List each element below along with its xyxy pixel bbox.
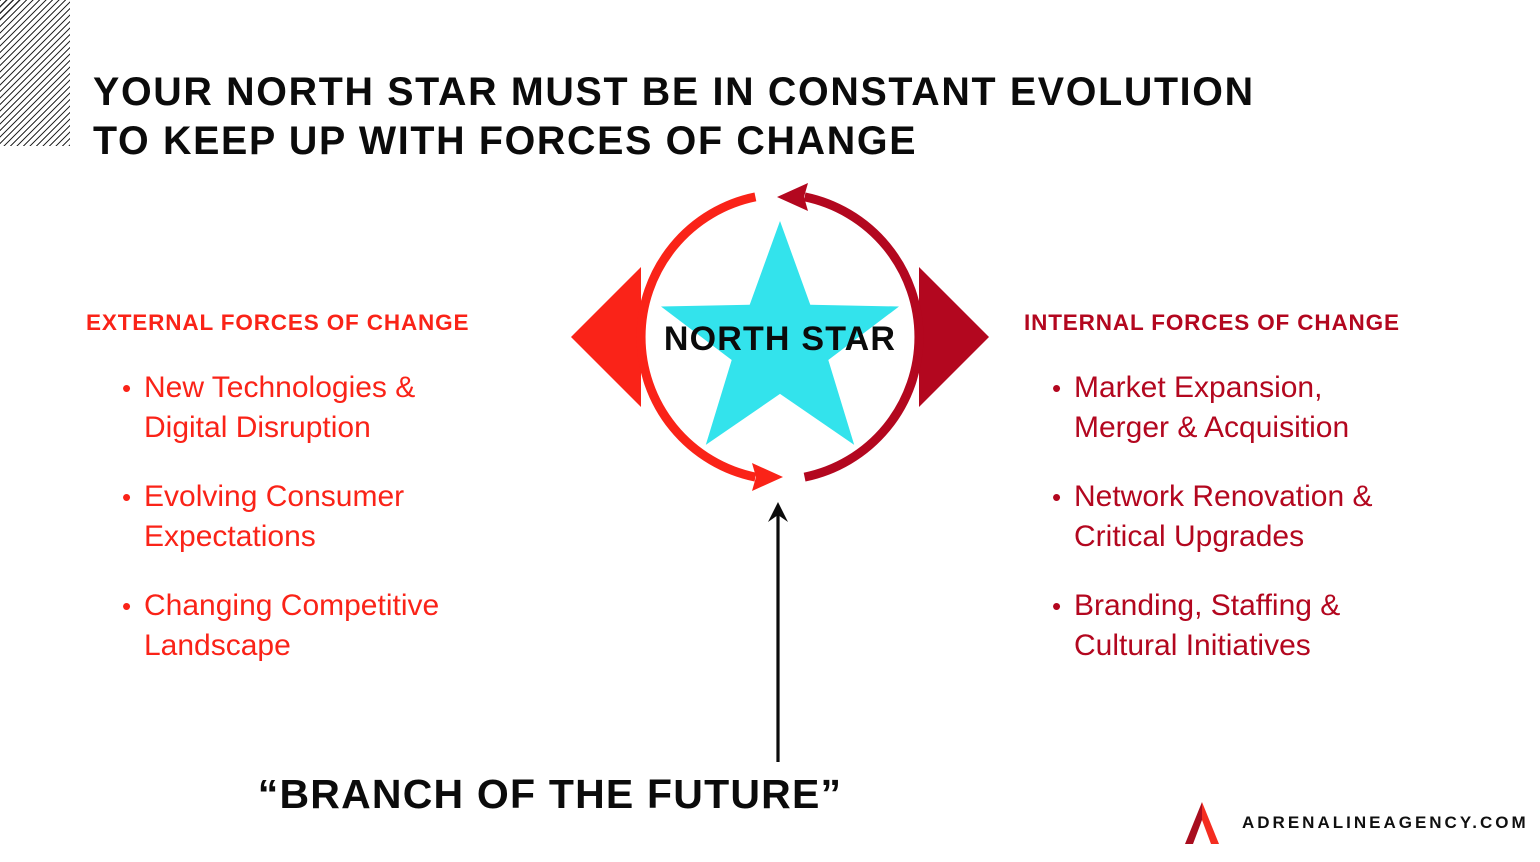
north-star-diagram: NORTH STAR [565, 170, 995, 515]
list-item: Network Renovation & Critical Upgrades [1050, 477, 1480, 557]
hatch-pattern-decoration [0, 0, 70, 146]
brand-logo[interactable]: ADRENALINEAGENCY.COM [1181, 801, 1529, 845]
internal-forces-heading: INTERNAL FORCES OF CHANGE [1024, 310, 1400, 336]
left-pointer-triangle [571, 267, 641, 407]
internal-forces-list: Market Expansion, Merger & Acquisition N… [1050, 368, 1480, 666]
list-item: Changing Competitive Landscape [120, 586, 550, 666]
slide-canvas: YOUR NORTH STAR MUST BE IN CONSTANT EVOL… [0, 0, 1540, 862]
external-forces-heading: EXTERNAL FORCES OF CHANGE [86, 310, 469, 336]
list-item: Evolving Consumer Expectations [120, 477, 550, 557]
right-arc-arrowhead [777, 183, 808, 211]
right-pointer-triangle [919, 267, 989, 407]
left-arc-arrowhead [752, 463, 783, 491]
page-title: YOUR NORTH STAR MUST BE IN CONSTANT EVOL… [93, 68, 1472, 166]
list-item: Branding, Staffing & Cultural Initiative… [1050, 586, 1480, 666]
logo-wordmark: ADRENALINEAGENCY.COM [1242, 813, 1529, 833]
branch-of-future-arrow [757, 498, 801, 763]
list-item: Market Expansion, Merger & Acquisition [1050, 368, 1480, 448]
adrenaline-a-mark-icon [1181, 801, 1223, 845]
list-item: New Technologies & Digital Disruption [120, 368, 550, 448]
north-star-label: NORTH STAR [664, 320, 896, 358]
branch-of-future-caption: “BRANCH OF THE FUTURE” [0, 771, 1100, 818]
external-forces-list: New Technologies & Digital Disruption Ev… [120, 368, 550, 666]
